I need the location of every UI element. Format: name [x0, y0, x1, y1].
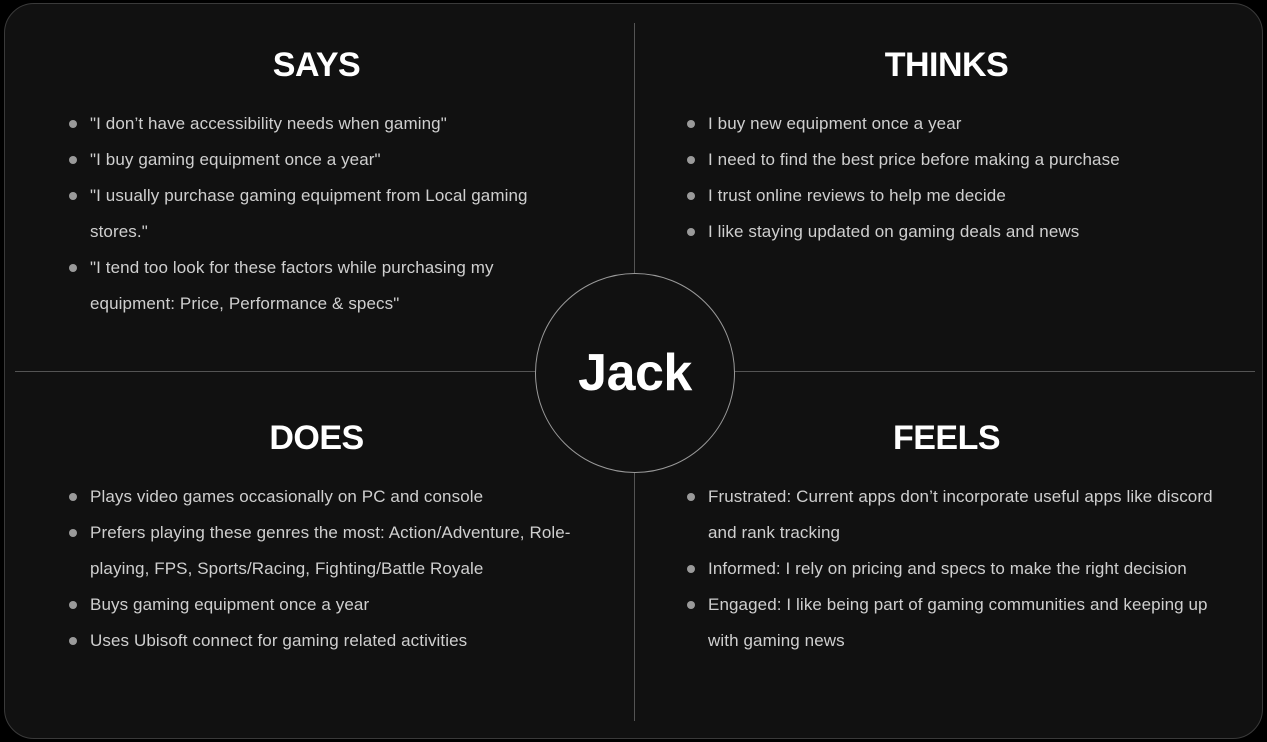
quadrant-feels-title: FEELS	[629, 419, 1263, 458]
bullet-dot-icon	[687, 228, 695, 236]
quadrant-feels: FEELS Frustrated: Current apps don’t inc…	[635, 372, 1263, 739]
quadrant-says-title: SAYS	[4, 46, 634, 85]
persona-name: Jack	[578, 343, 692, 403]
bullet-dot-icon	[687, 156, 695, 164]
list-item-text: I buy new equipment once a year	[708, 114, 962, 133]
bullet-dot-icon	[69, 493, 77, 501]
bullet-dot-icon	[687, 493, 695, 501]
list-item: I trust online reviews to help me decide	[687, 178, 1230, 214]
list-item: Engaged: I like being part of gaming com…	[687, 587, 1230, 659]
list-item-text: I trust online reviews to help me decide	[708, 186, 1006, 205]
persona-circle: Jack	[535, 273, 735, 473]
bullet-dot-icon	[687, 601, 695, 609]
list-item: I like staying updated on gaming deals a…	[687, 214, 1230, 250]
list-item: "I tend too look for these factors while…	[69, 250, 574, 322]
list-item-text: Engaged: I like being part of gaming com…	[708, 595, 1208, 650]
list-item: "I buy gaming equipment once a year"	[69, 142, 574, 178]
bullet-dot-icon	[69, 192, 77, 200]
quadrant-does-list: Plays video games occasionally on PC and…	[5, 479, 634, 659]
list-item-text: Uses Ubisoft connect for gaming related …	[90, 631, 467, 650]
quadrant-says: SAYS "I don’t have accessibility needs w…	[5, 4, 634, 372]
quadrant-says-list: "I don’t have accessibility needs when g…	[5, 106, 634, 322]
quadrant-feels-list: Frustrated: Current apps don’t incorpora…	[635, 479, 1263, 659]
list-item-text: Frustrated: Current apps don’t incorpora…	[708, 487, 1213, 542]
list-item: Informed: I rely on pricing and specs to…	[687, 551, 1230, 587]
list-item-text: Prefers playing these genres the most: A…	[90, 523, 571, 578]
bullet-dot-icon	[69, 156, 77, 164]
list-item-text: Buys gaming equipment once a year	[90, 595, 369, 614]
list-item: "I don’t have accessibility needs when g…	[69, 106, 574, 142]
quadrant-thinks-list: I buy new equipment once a year I need t…	[635, 106, 1263, 250]
empathy-map-card: SAYS "I don’t have accessibility needs w…	[4, 3, 1263, 739]
list-item: Uses Ubisoft connect for gaming related …	[69, 623, 574, 659]
bullet-dot-icon	[69, 264, 77, 272]
list-item-text: Plays video games occasionally on PC and…	[90, 487, 483, 506]
list-item: I need to find the best price before mak…	[687, 142, 1230, 178]
list-item: I buy new equipment once a year	[687, 106, 1230, 142]
bullet-dot-icon	[69, 529, 77, 537]
list-item-text: "I tend too look for these factors while…	[90, 258, 494, 313]
quadrant-does-title: DOES	[4, 419, 634, 458]
list-item-text: I need to find the best price before mak…	[708, 150, 1120, 169]
list-item-text: "I buy gaming equipment once a year"	[90, 150, 381, 169]
list-item: Plays video games occasionally on PC and…	[69, 479, 574, 515]
list-item: Frustrated: Current apps don’t incorpora…	[687, 479, 1230, 551]
list-item: Prefers playing these genres the most: A…	[69, 515, 574, 587]
bullet-dot-icon	[69, 637, 77, 645]
quadrant-thinks: THINKS I buy new equipment once a year I…	[635, 4, 1263, 372]
list-item-text: "I don’t have accessibility needs when g…	[90, 114, 447, 133]
list-item-text: "I usually purchase gaming equipment fro…	[90, 186, 528, 241]
list-item: Buys gaming equipment once a year	[69, 587, 574, 623]
bullet-dot-icon	[687, 192, 695, 200]
quadrant-does: DOES Plays video games occasionally on P…	[5, 372, 634, 739]
list-item-text: Informed: I rely on pricing and specs to…	[708, 559, 1187, 578]
list-item: "I usually purchase gaming equipment fro…	[69, 178, 574, 250]
quadrant-thinks-title: THINKS	[629, 46, 1263, 85]
bullet-dot-icon	[69, 601, 77, 609]
bullet-dot-icon	[687, 120, 695, 128]
bullet-dot-icon	[69, 120, 77, 128]
bullet-dot-icon	[687, 565, 695, 573]
list-item-text: I like staying updated on gaming deals a…	[708, 222, 1079, 241]
